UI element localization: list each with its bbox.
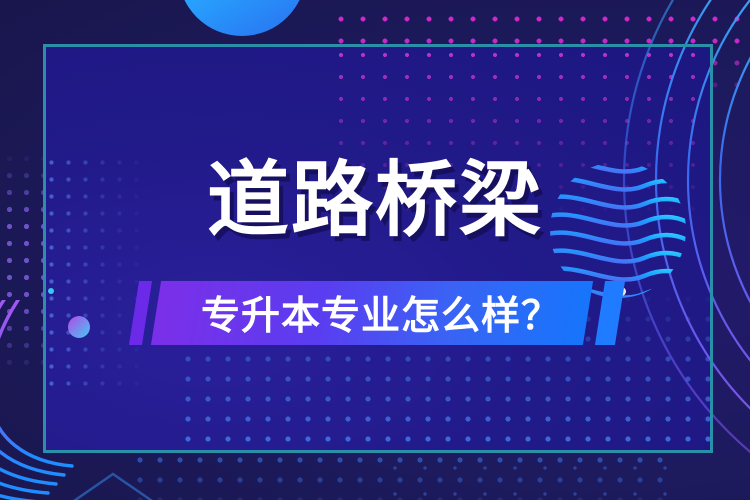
small-cyan-dot-icon	[48, 288, 54, 294]
banner-accent-left	[129, 281, 152, 345]
page-title: 道路桥梁	[0, 158, 750, 244]
subtitle-banner: 专升本专业怎么样？	[120, 281, 640, 345]
banner-accent-right	[595, 281, 625, 345]
inner-panel	[43, 44, 713, 453]
subtitle-text: 专升本专业怎么样？	[166, 281, 596, 345]
gradient-dot-icon	[68, 316, 90, 338]
poster-banner: 道路桥梁 专升本专业怎么样？	[0, 0, 750, 500]
